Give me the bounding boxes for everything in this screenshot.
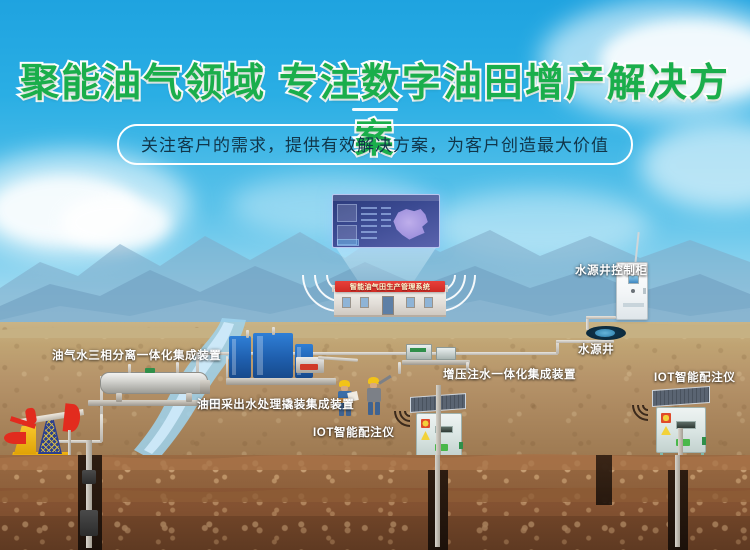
label-iot-injector-right: IOT智能配注仪 bbox=[654, 369, 735, 385]
pipeline-riser bbox=[100, 414, 103, 442]
scene-illustration: 聚能油气领域 专注数字油田增产解决方案 关注客户的需求，提供有效解决方案，为客户… bbox=[0, 0, 750, 550]
soil-boundary bbox=[0, 450, 750, 470]
treatment-nozzle bbox=[272, 327, 275, 335]
well-connection-pipe bbox=[586, 316, 616, 319]
well-casing bbox=[675, 455, 680, 547]
china-map-graphic bbox=[391, 207, 431, 241]
label-iot-injector-left: IOT智能配注仪 bbox=[313, 424, 394, 440]
dashboard-row bbox=[381, 225, 391, 227]
downhole-pump bbox=[80, 510, 98, 536]
label-booster-water-injection: 增压注水一体化集成装置 bbox=[443, 366, 576, 382]
treatment-tank bbox=[253, 333, 293, 378]
separator-vessel bbox=[100, 372, 208, 394]
pumpjack-counterweight bbox=[4, 432, 26, 444]
treatment-nozzle bbox=[246, 330, 249, 338]
building-banner: 智能油气田生产管理系统 bbox=[335, 281, 445, 292]
well-water bbox=[595, 329, 615, 337]
booster-unit bbox=[406, 344, 432, 360]
treatment-skid bbox=[226, 378, 336, 385]
worker-torso bbox=[367, 388, 381, 402]
label-water-well-control-cabinet: 水源井控制柜 bbox=[575, 262, 648, 278]
warning-sticker bbox=[421, 419, 430, 428]
pumpjack-pitman bbox=[25, 407, 38, 424]
dashboard-row bbox=[361, 231, 377, 233]
separator-nozzle bbox=[176, 362, 179, 373]
soil-boundary bbox=[0, 484, 750, 502]
worker-leg bbox=[375, 402, 380, 415]
dashboard-row bbox=[361, 219, 377, 221]
well-casing bbox=[435, 455, 440, 547]
pumpjack-horsehead bbox=[63, 403, 82, 433]
booster-unit bbox=[436, 347, 456, 360]
building-banner-text: 智能油气田生产管理系统 bbox=[350, 282, 430, 292]
control-building: 智能油气田生产管理系统 bbox=[334, 281, 446, 317]
separator-saddle bbox=[116, 393, 122, 402]
building-window bbox=[360, 297, 369, 308]
building-facade bbox=[334, 289, 446, 317]
wellbore-shaft bbox=[596, 455, 612, 505]
label-produced-water-treatment: 油田采出水处理撬装集成装置 bbox=[197, 396, 354, 412]
dashboard-row bbox=[361, 225, 377, 227]
cabinet-handle[interactable] bbox=[702, 437, 706, 445]
cabinet-indicator bbox=[631, 289, 635, 293]
main-pipeline bbox=[198, 352, 558, 355]
booster-riser bbox=[398, 362, 401, 374]
cabinet-nameplate bbox=[623, 303, 644, 307]
dashboard-row bbox=[361, 213, 377, 215]
separator-saddle bbox=[186, 393, 192, 402]
treatment-pump-motor bbox=[300, 364, 318, 370]
worker-leg bbox=[368, 402, 373, 415]
separator-nozzle bbox=[128, 364, 131, 373]
water-source-well bbox=[586, 324, 626, 342]
building-window bbox=[406, 297, 415, 308]
dashboard-row bbox=[361, 237, 377, 239]
cabinet-handle[interactable] bbox=[643, 288, 646, 294]
cabinet-handle[interactable] bbox=[459, 442, 463, 449]
subtitle-container: 关注客户的需求，提供有效解决方案，为客户创造最大价值 bbox=[0, 124, 750, 165]
treatment-downcomer bbox=[226, 356, 228, 378]
dashboard-toolbar bbox=[333, 195, 439, 201]
building-window bbox=[342, 297, 351, 308]
dashboard-row bbox=[361, 207, 377, 209]
building-window bbox=[424, 297, 433, 308]
title-divider bbox=[352, 108, 398, 111]
warning-triangle-icon bbox=[421, 431, 430, 440]
dashboard-panel bbox=[337, 204, 357, 222]
solar-panel-icon bbox=[652, 386, 710, 407]
dashboard-row bbox=[381, 219, 391, 221]
label-three-phase-separator: 油气水三相分离一体化集成装置 bbox=[52, 347, 221, 363]
booster-valve bbox=[410, 348, 426, 352]
dashboard-row bbox=[381, 213, 391, 215]
worker-right bbox=[364, 377, 384, 418]
label-water-source-well: 水源井 bbox=[578, 341, 614, 357]
soil-pebbles bbox=[0, 516, 750, 550]
downhole-tool bbox=[82, 470, 96, 484]
page-subtitle: 关注客户的需求，提供有效解决方案，为客户创造最大价值 bbox=[117, 124, 633, 165]
separator-pump bbox=[200, 380, 210, 394]
booster-skid bbox=[402, 360, 470, 365]
treatment-tank bbox=[229, 336, 251, 378]
dashboard-row bbox=[381, 207, 391, 209]
separator-valve bbox=[145, 368, 155, 373]
building-door bbox=[382, 296, 394, 315]
warning-triangle-icon bbox=[661, 426, 671, 435]
warning-sticker bbox=[661, 413, 671, 423]
